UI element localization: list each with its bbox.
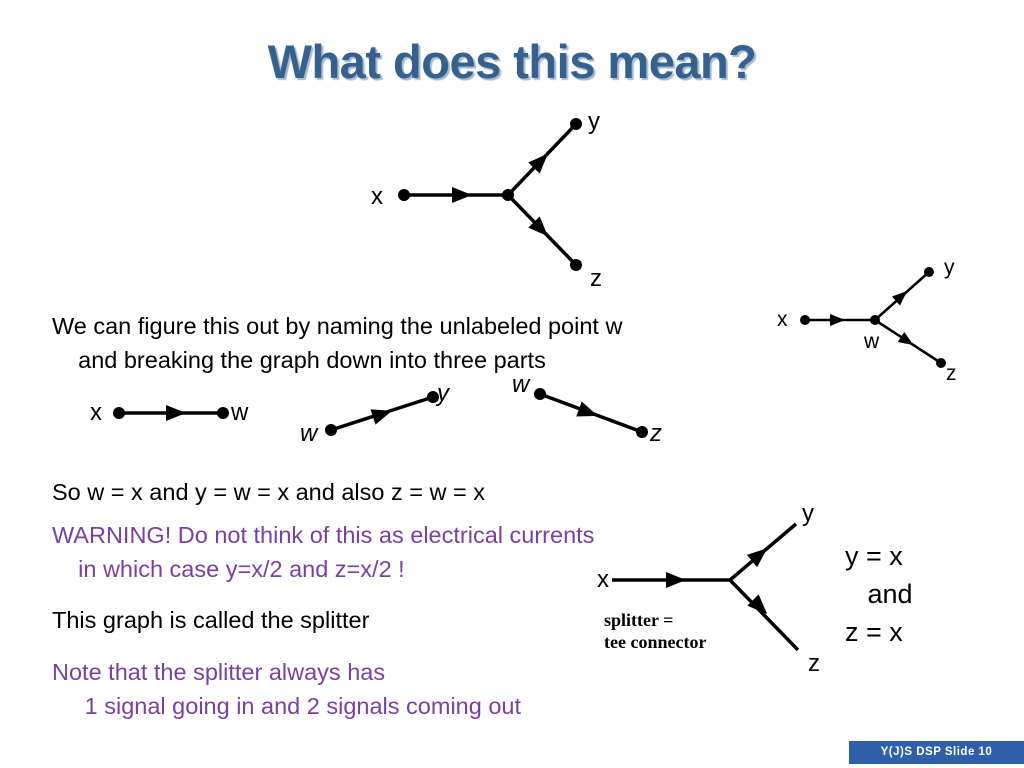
diagram-main-label-y: y — [588, 108, 600, 136]
footer-label: Y(J)S DSP Slide 10 — [849, 741, 1024, 764]
diagram-part3-label-z: z — [650, 420, 662, 448]
diagram-splitter-label-x: x — [597, 566, 609, 594]
paragraph-equalities: So w = x and y = w = x and also z = w = … — [52, 475, 752, 509]
diagram-part-w-to-y — [325, 391, 440, 436]
diagram-part3-label-w: w — [512, 371, 529, 399]
diagram-main-label-z: z — [590, 265, 602, 293]
slide-canvas: What does this mean? x y z We can figure… — [0, 0, 1024, 768]
page-title: What does this mean? — [0, 34, 1024, 89]
paragraph-splitter-name: This graph is called the splitter — [52, 603, 572, 637]
diagram-splitter-caption: splitter = tee connector — [604, 609, 706, 653]
diagram-named-label-y: y — [944, 256, 955, 280]
paragraph-explanation: We can figure this out by naming the unl… — [52, 309, 772, 377]
diagram-main-label-x: x — [371, 183, 383, 211]
diagram-part1-label-w: w — [231, 399, 248, 427]
splitter-equations: y = x and z = x — [845, 537, 913, 651]
diagram-named-label-w: w — [864, 330, 879, 354]
footer-bar: Y(J)S DSP Slide 10 — [849, 741, 1024, 764]
diagram-splitter-label-y: y — [802, 500, 814, 528]
diagram-part2-label-y: y — [437, 380, 449, 408]
diagram-part2-label-w: w — [300, 420, 317, 448]
diagram-named-label-x: x — [777, 308, 788, 332]
paragraph-note: Note that the splitter always has 1 sign… — [52, 655, 692, 723]
diagram-part-w-to-z — [534, 388, 649, 438]
diagram-named-label-z: z — [946, 362, 957, 386]
diagram-part-x-to-w — [113, 403, 233, 423]
diagram-part1-label-x: x — [90, 399, 102, 427]
diagram-splitter-label-z: z — [808, 650, 820, 678]
